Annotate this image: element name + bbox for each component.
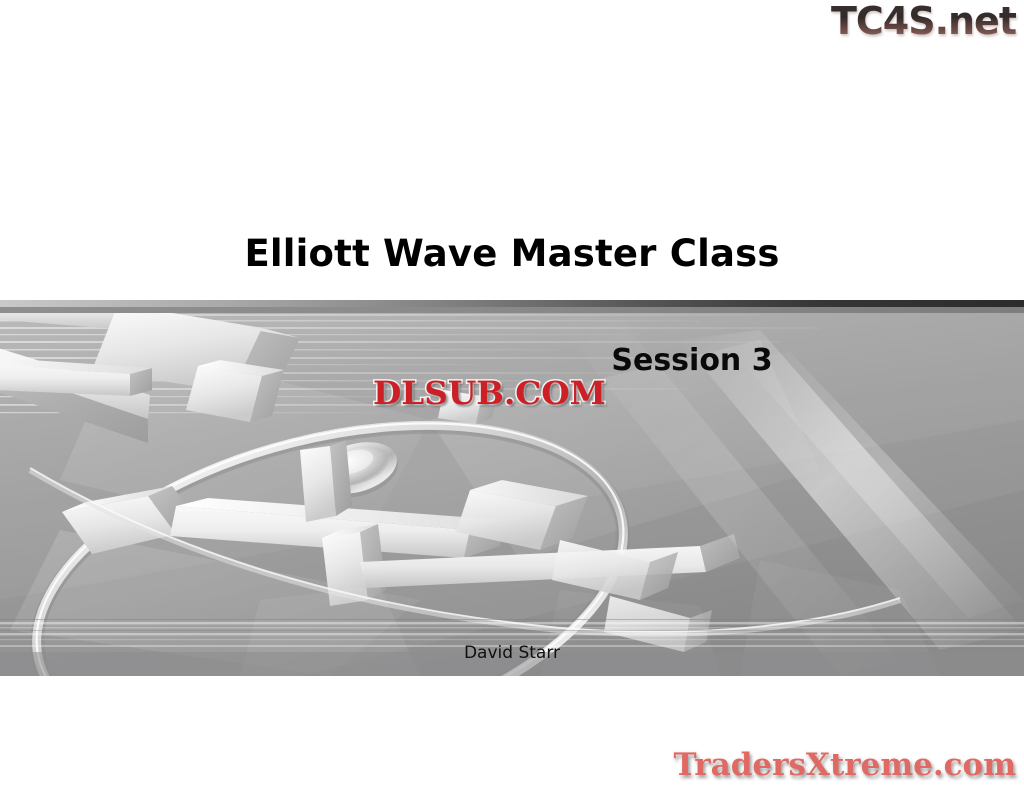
dlsub-watermark-text: DLSUB.COM (373, 374, 606, 412)
presenter-name: David Starr (0, 643, 1024, 663)
session-label: Session 3 (0, 343, 1024, 378)
slide-title: Elliott Wave Master Class (0, 232, 1024, 275)
dlsub-watermark: DLSUB.COM (373, 374, 606, 412)
tradersxtreme-watermark: TradersXtreme.com (673, 747, 1016, 783)
tc4s-logo: TC4S.net (831, 2, 1016, 40)
presentation-slide: TC4S.net TC4S.net Elliott Wave Master Cl… (0, 0, 1024, 791)
